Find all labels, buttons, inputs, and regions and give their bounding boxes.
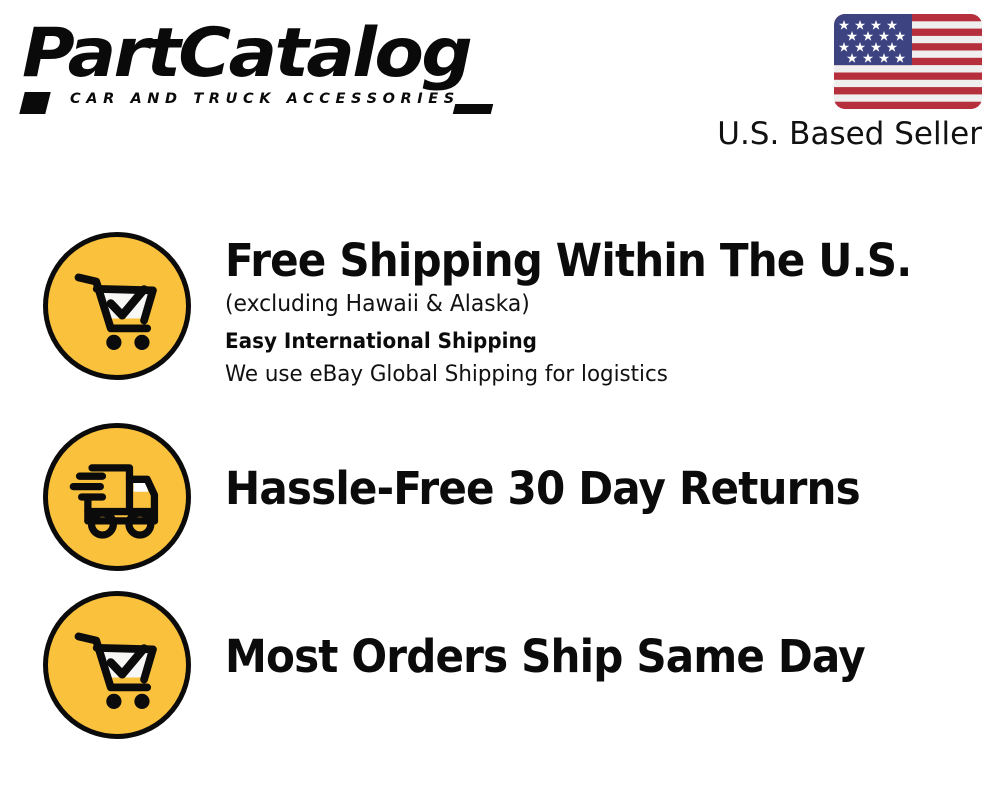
shopping-cart-check-icon <box>43 591 191 739</box>
feature-title: Free Shipping Within The U.S. <box>225 234 950 287</box>
feature-text-block: Hassle-Free 30 Day Returns <box>191 407 1000 515</box>
us-based-seller-label: U.S. Based Seller <box>717 116 982 152</box>
feature-title: Hassle-Free 30 Day Returns <box>225 462 950 515</box>
brand-wordmark: PartCatalog <box>22 18 520 90</box>
feature-subtitle-strong: Easy International Shipping <box>225 325 961 358</box>
feature-row: Hassle-Free 30 Day Returns <box>0 407 1000 577</box>
feature-title: Most Orders Ship Same Day <box>225 630 950 683</box>
feature-row: Most Orders Ship Same Day <box>0 577 1000 752</box>
feature-row: Free Shipping Within The U.S. (excluding… <box>0 232 1000 407</box>
feature-subtitle: We use eBay Global Shipping for logistic… <box>225 358 961 391</box>
logo-accent-right <box>453 104 493 114</box>
promo-banner: PartCatalog CAR AND TRUCK ACCESSORIES <box>0 0 1000 800</box>
brand-logo: PartCatalog CAR AND TRUCK ACCESSORIES <box>22 18 492 118</box>
brand-tagline: CAR AND TRUCK ACCESSORIES <box>70 91 492 107</box>
feature-text-block: Free Shipping Within The U.S. (excluding… <box>191 232 1000 391</box>
logo-accent-left <box>19 92 50 114</box>
feature-list: Free Shipping Within The U.S. (excluding… <box>0 232 1000 752</box>
feature-note: (excluding Hawaii & Alaska) <box>225 287 961 321</box>
shopping-cart-check-icon <box>43 232 191 380</box>
delivery-truck-icon <box>43 423 191 571</box>
feature-text-block: Most Orders Ship Same Day <box>191 577 1000 683</box>
us-flag-icon <box>834 14 982 109</box>
